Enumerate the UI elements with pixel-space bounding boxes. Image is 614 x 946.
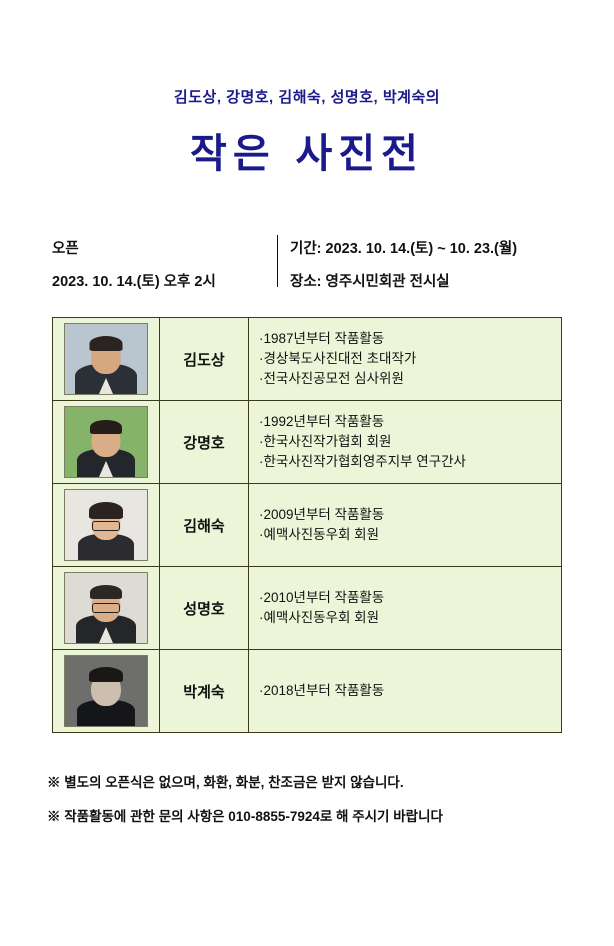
member-photo-cell — [53, 567, 160, 650]
desc-line: ·2010년부터 작품활동 — [259, 588, 551, 608]
member-name: 박계숙 — [160, 650, 249, 733]
table-row: 김도상 ·1987년부터 작품활동 ·경상북도사진대전 초대작가 ·전국사진공모… — [53, 318, 562, 401]
member-name: 성명호 — [160, 567, 249, 650]
footer-note: ※ 작품활동에 관한 문의 사항은 010-8855-7924로 해 주시기 바… — [47, 805, 567, 825]
footer-notes: ※ 별도의 오픈식은 없으며, 화환, 화분, 찬조금은 받지 않습니다. ※ … — [47, 771, 567, 825]
desc-line: ·1992년부터 작품활동 — [259, 412, 551, 432]
member-photo-cell — [53, 484, 160, 567]
member-name: 김도상 — [160, 318, 249, 401]
portrait-kim-hae-suk-icon — [64, 489, 148, 561]
table-row: 박계숙 ·2018년부터 작품활동 — [53, 650, 562, 733]
table-row: 강명호 ·1992년부터 작품활동 ·한국사진작가협회 회원 ·한국사진작가협회… — [53, 401, 562, 484]
member-photo-cell — [53, 650, 160, 733]
desc-line: ·한국사진작가협회영주지부 연구간사 — [259, 452, 551, 472]
info-block: 오픈 2023. 10. 14.(토) 오후 2시 기간: 2023. 10. … — [0, 235, 614, 291]
members-table: 김도상 ·1987년부터 작품활동 ·경상북도사진대전 초대작가 ·전국사진공모… — [52, 317, 562, 733]
member-name: 강명호 — [160, 401, 249, 484]
info-open: 오픈 2023. 10. 14.(토) 오후 2시 — [52, 235, 277, 291]
open-datetime: 2023. 10. 14.(토) 오후 2시 — [52, 270, 277, 291]
members-table-wrap: 김도상 ·1987년부터 작품활동 ·경상북도사진대전 초대작가 ·전국사진공모… — [52, 317, 562, 733]
member-description: ·2018년부터 작품활동 — [249, 650, 562, 733]
member-photo-cell — [53, 318, 160, 401]
poster-title: 작은 사진전 — [0, 121, 614, 179]
footer-note: ※ 별도의 오픈식은 없으며, 화환, 화분, 찬조금은 받지 않습니다. — [47, 771, 567, 791]
desc-line: ·한국사진작가협회 회원 — [259, 432, 551, 452]
portrait-kim-do-sang-icon — [64, 323, 148, 395]
member-description: ·1992년부터 작품활동 ·한국사진작가협회 회원 ·한국사진작가협회영주지부… — [249, 401, 562, 484]
member-description: ·2010년부터 작품활동 ·예맥사진동우회 회원 — [249, 567, 562, 650]
portrait-seong-myeong-ho-icon — [64, 572, 148, 644]
desc-line: ·2018년부터 작품활동 — [259, 681, 551, 701]
info-details: 기간: 2023. 10. 14.(토) ~ 10. 23.(월) 장소: 영주… — [290, 235, 562, 291]
desc-line: ·전국사진공모전 심사위원 — [259, 369, 551, 389]
table-row: 김해숙 ·2009년부터 작품활동 ·예맥사진동우회 회원 — [53, 484, 562, 567]
member-photo-cell — [53, 401, 160, 484]
poster: 김도상, 강명호, 김해숙, 성명호, 박계숙의 작은 사진전 오픈 2023.… — [0, 86, 614, 946]
portrait-park-gye-suk-icon — [64, 655, 148, 727]
table-row: 성명호 ·2010년부터 작품활동 ·예맥사진동우회 회원 — [53, 567, 562, 650]
portrait-kang-myeong-ho-icon — [64, 406, 148, 478]
desc-line: ·예맥사진동우회 회원 — [259, 525, 551, 545]
member-description: ·1987년부터 작품활동 ·경상북도사진대전 초대작가 ·전국사진공모전 심사… — [249, 318, 562, 401]
member-description: ·2009년부터 작품활동 ·예맥사진동우회 회원 — [249, 484, 562, 567]
info-divider — [277, 235, 278, 287]
desc-line: ·예맥사진동우회 회원 — [259, 608, 551, 628]
open-label: 오픈 — [52, 237, 277, 258]
desc-line: ·1987년부터 작품활동 — [259, 329, 551, 349]
desc-line: ·경상북도사진대전 초대작가 — [259, 349, 551, 369]
poster-subtitle: 김도상, 강명호, 김해숙, 성명호, 박계숙의 — [0, 86, 614, 107]
exhibition-place: 장소: 영주시민회관 전시실 — [290, 270, 562, 291]
member-name: 김해숙 — [160, 484, 249, 567]
desc-line: ·2009년부터 작품활동 — [259, 505, 551, 525]
exhibition-period: 기간: 2023. 10. 14.(토) ~ 10. 23.(월) — [290, 237, 562, 258]
